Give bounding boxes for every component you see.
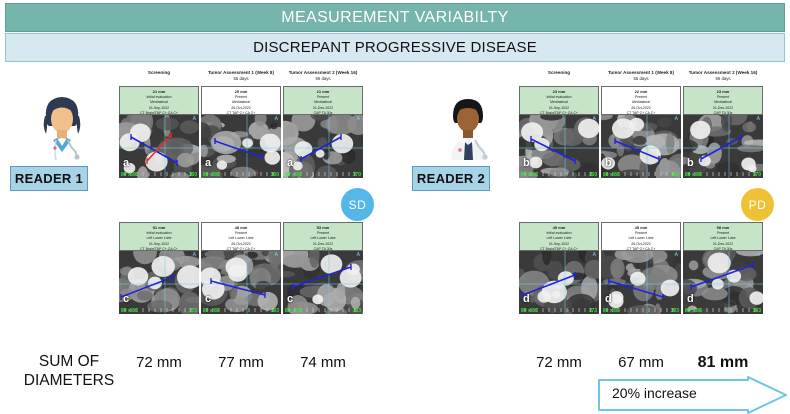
reader2-avatar (432, 88, 504, 160)
reader1-sum-ta1: 77 mm (201, 354, 281, 371)
panel-letter: d (605, 293, 612, 305)
column-header-screening-reader2: Screening (520, 70, 598, 76)
ct-image[interactable]: Aa80 x 80150 (119, 115, 199, 178)
ct-image[interactable]: Ab80 x 80170 (683, 115, 763, 178)
ct-panel-reader2-d-3[interactable]: 58 mmPresentLeft Lower Lobe21-Dec-2022CA… (683, 222, 763, 314)
reader2-label: READER 2 (417, 171, 485, 186)
ct-image[interactable]: Ab80 x 80160 (601, 115, 681, 178)
slice-number-readout: 183 (353, 308, 361, 314)
window-level-readout: 80 x 80 (285, 308, 302, 314)
lesion-info-box: 21 mmInitial evaluationMediastinal01-Sep… (119, 86, 199, 115)
slice-number-readout: 183 (753, 308, 761, 314)
lesion-info-box: 49 mmInitial evaluationLeft Lower Lobe01… (519, 222, 599, 251)
reader1-sum-screening: 72 mm (119, 354, 199, 371)
panel-letter: b (687, 157, 694, 169)
orientation-letter-icon: A (757, 116, 760, 122)
column-header-label: Tumor Assessment 1 (Week 8) (602, 70, 680, 76)
lesion-info-box: 51 mmInitial evaluationLeft Lower Lobe01… (119, 222, 199, 251)
reader2-response-badge: PD (741, 188, 774, 221)
orientation-letter-icon: A (275, 252, 278, 258)
window-level-readout: 80 x 80 (285, 172, 302, 178)
window-level-readout: 80 x 80 (685, 172, 702, 178)
slice-number-readout: 193 (671, 308, 679, 314)
ct-image[interactable]: Ac80 x 80193 (201, 251, 281, 314)
reader2-sum-screening: 72 mm (519, 354, 599, 371)
column-header-days: 55 days (202, 76, 280, 81)
window-level-readout: 80 x 80 (521, 172, 538, 178)
ct-image[interactable]: Ad80 x 80193 (601, 251, 681, 314)
panel-letter: c (287, 293, 293, 305)
lesion-info-box: 45 mmPresentLeft Lower Lobe26-Oct-2022CT… (601, 222, 681, 251)
reader1-response-badge: SD (341, 188, 374, 221)
ct-panel-reader2-b-1[interactable]: 23 mmInitial evaluationMediastinal01-Sep… (519, 86, 599, 178)
orientation-letter-icon: A (357, 116, 360, 122)
column-header-ta2-reader1: Tumor Assessment 2 (Week 16) 56 days (284, 70, 362, 81)
sum-label-line2: DIAMETERS (14, 371, 124, 390)
reader2-sum-ta2: 81 mm (683, 354, 763, 372)
panel-letter: a (205, 157, 211, 169)
panel-letter: b (523, 157, 530, 169)
lesion-info-box: 29 mmPresentMediastinal26-Oct-2022CT TAP… (201, 86, 281, 115)
ct-panel-reader2-b-2[interactable]: 22 mmPresentMediastinal26-Oct-2022CT TAP… (601, 86, 681, 178)
page-subtitle: DISCREPANT PROGRESSIVE DISEASE (253, 39, 537, 56)
reader1-badge[interactable]: READER 1 (10, 166, 88, 191)
panel-letter: b (605, 157, 612, 169)
lesion-info-box: 53 mmPresentLeft Lower Lobe21-Dec-2022CA… (283, 222, 363, 251)
column-header-screening-reader1: Screening (120, 70, 198, 76)
page-title-banner: MEASUREMENT VARIABILTY (5, 3, 785, 32)
ct-image[interactable]: Ac80 x 80183 (283, 251, 363, 314)
window-level-readout: 80 x 80 (521, 308, 538, 314)
slice-number-readout: 160 (671, 172, 679, 178)
column-header-days: 56 days (284, 76, 362, 81)
slice-number-readout: 150 (189, 172, 197, 178)
column-header-ta1-reader2: Tumor Assessment 1 (Week 8) 55 days (602, 70, 680, 81)
orientation-letter-icon: A (275, 116, 278, 122)
slice-number-readout: 170 (753, 172, 761, 178)
ct-image[interactable]: Aa80 x 80170 (283, 115, 363, 178)
column-header-days: 56 days (684, 76, 762, 81)
sum-of-diameters-label: SUM OF DIAMETERS (14, 352, 124, 391)
panel-letter: c (205, 293, 211, 305)
panel-letter: d (523, 293, 530, 305)
column-header-ta1-reader1: Tumor Assessment 1 (Week 8) 55 days (202, 70, 280, 81)
window-level-readout: 80 x 80 (203, 308, 220, 314)
orientation-letter-icon: A (357, 252, 360, 258)
ct-image[interactable]: Ac80 x 80173 (119, 251, 199, 314)
reader1-sum-ta2: 74 mm (283, 354, 363, 371)
column-header-label: Tumor Assessment 1 (Week 8) (202, 70, 280, 76)
slice-number-readout: 150 (589, 172, 597, 178)
window-level-readout: 80 x 80 (203, 172, 220, 178)
lesion-info-box: 58 mmPresentLeft Lower Lobe21-Dec-2022CA… (683, 222, 763, 251)
ct-panel-reader1-c-2[interactable]: 48 mmPresentLeft Lower Lobe26-Oct-2022CT… (201, 222, 281, 314)
lesion-info-box: 22 mmPresentMediastinal26-Oct-2022CT TAP… (601, 86, 681, 115)
ct-panel-reader2-b-3[interactable]: 23 mmPresentMediastinal21-Dec-2022CAP TA… (683, 86, 763, 178)
column-header-label: Tumor Assessment 2 (Week 16) (684, 70, 762, 76)
increase-arrow: 20% increase (598, 376, 790, 414)
orientation-letter-icon: A (593, 116, 596, 122)
panel-letter: d (687, 293, 694, 305)
slice-number-readout: 193 (271, 308, 279, 314)
window-level-readout: 80 x 80 (603, 172, 620, 178)
ct-panel-reader1-c-1[interactable]: 51 mmInitial evaluationLeft Lower Lobe01… (119, 222, 199, 314)
orientation-letter-icon: A (193, 252, 196, 258)
column-header-label: Screening (120, 70, 198, 76)
window-level-readout: 80 x 80 (121, 172, 138, 178)
ct-panel-reader1-c-3[interactable]: 53 mmPresentLeft Lower Lobe21-Dec-2022CA… (283, 222, 363, 314)
ct-panel-reader2-d-1[interactable]: 49 mmInitial evaluationLeft Lower Lobe01… (519, 222, 599, 314)
column-header-ta2-reader2: Tumor Assessment 2 (Week 16) 56 days (684, 70, 762, 81)
column-header-label: Screening (520, 70, 598, 76)
ct-panel-reader1-a-2[interactable]: 29 mmPresentMediastinal26-Oct-2022CT TAP… (201, 86, 281, 178)
window-level-readout: 80 x 80 (603, 308, 620, 314)
reader2-sum-ta1: 67 mm (601, 354, 681, 371)
page-title: MEASUREMENT VARIABILTY (281, 9, 509, 27)
reader1-avatar (26, 88, 98, 160)
ct-panel-reader2-d-2[interactable]: 45 mmPresentLeft Lower Lobe26-Oct-2022CT… (601, 222, 681, 314)
increase-arrow-label: 20% increase (612, 385, 697, 401)
ct-image[interactable]: Ad80 x 80183 (683, 251, 763, 314)
orientation-letter-icon: A (193, 116, 196, 122)
slice-number-readout: 160 (271, 172, 279, 178)
reader2-badge[interactable]: READER 2 (412, 166, 490, 191)
slice-number-readout: 173 (589, 308, 597, 314)
sum-label-line1: SUM OF (14, 352, 124, 371)
orientation-letter-icon: A (593, 252, 596, 258)
reader2-response-code: PD (749, 198, 767, 212)
orientation-letter-icon: A (675, 252, 678, 258)
column-header-label: Tumor Assessment 2 (Week 16) (284, 70, 362, 76)
reader1-response-code: SD (349, 198, 367, 212)
lesion-info-box: 23 mmInitial evaluationMediastinal01-Sep… (519, 86, 599, 115)
ct-image[interactable]: Aa80 x 80160 (201, 115, 281, 178)
panel-letter: a (287, 157, 293, 169)
column-header-days: 55 days (602, 76, 680, 81)
ct-image[interactable]: Ab80 x 80150 (519, 115, 599, 178)
orientation-letter-icon: A (675, 116, 678, 122)
lesion-info-box: 21 mmPresentMediastinal21-Dec-2022CAP TA… (283, 86, 363, 115)
window-level-readout: 80 x 80 (121, 308, 138, 314)
window-level-readout: 80 x 80 (685, 308, 702, 314)
lesion-info-box: 23 mmPresentMediastinal21-Dec-2022CAP TA… (683, 86, 763, 115)
ct-image[interactable]: Ad80 x 80173 (519, 251, 599, 314)
lesion-info-box: 48 mmPresentLeft Lower Lobe26-Oct-2022CT… (201, 222, 281, 251)
ct-panel-reader1-a-1[interactable]: 21 mmInitial evaluationMediastinal01-Sep… (119, 86, 199, 178)
panel-letter: c (123, 293, 129, 305)
page-subtitle-banner: DISCREPANT PROGRESSIVE DISEASE (5, 33, 785, 62)
ct-panel-reader1-a-3[interactable]: 21 mmPresentMediastinal21-Dec-2022CAP TA… (283, 86, 363, 178)
slice-number-readout: 173 (189, 308, 197, 314)
slice-number-readout: 170 (353, 172, 361, 178)
orientation-letter-icon: A (757, 252, 760, 258)
reader1-label: READER 1 (15, 171, 83, 186)
panel-letter: a (123, 157, 129, 169)
